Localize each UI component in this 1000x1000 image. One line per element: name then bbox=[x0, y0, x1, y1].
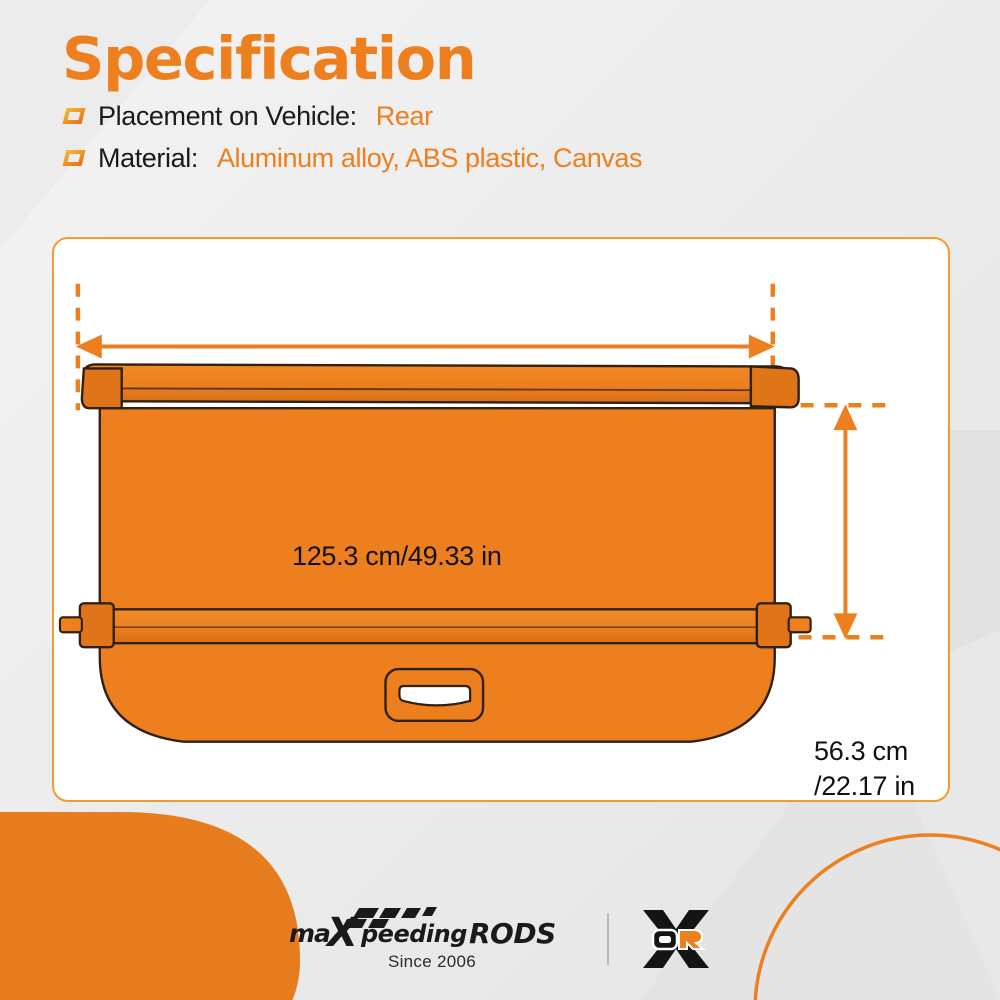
svg-text:peeding: peeding bbox=[360, 920, 467, 948]
svg-text:X: X bbox=[324, 910, 360, 950]
cargo-cover-diagram bbox=[54, 239, 948, 801]
top-bar-end-cap-right bbox=[751, 366, 799, 407]
header: Specification Placement on Vehicle: Rear… bbox=[62, 28, 642, 174]
maxpeedingrods-wordmark-icon: ma X peeding RODS bbox=[287, 906, 577, 950]
bottom-bar-bracket-left bbox=[80, 603, 114, 647]
dimension-width-label: 125.3 cm/49.33 in bbox=[292, 539, 502, 574]
top-bar-end-cap-left bbox=[82, 368, 122, 408]
page-title: Specification bbox=[62, 28, 642, 90]
bottom-roller-bar bbox=[94, 609, 781, 643]
parallelogram-bullet-icon bbox=[62, 149, 86, 167]
spec-row-material: Material: Aluminum alloy, ABS plastic, C… bbox=[62, 143, 642, 174]
logo-divider bbox=[607, 913, 609, 965]
spec-label-placement: Placement on Vehicle: bbox=[98, 101, 357, 132]
brand-logo: ma X peeding RODS Since 2006 bbox=[287, 906, 577, 972]
dim-height-arrow-top bbox=[833, 404, 857, 430]
bottom-bar-bracket-right bbox=[757, 603, 791, 647]
spec-value-placement: Rear bbox=[376, 101, 433, 132]
brand-tagline: Since 2006 bbox=[388, 952, 476, 972]
spec-label-material: Material: bbox=[98, 143, 198, 174]
bottom-bar-peg-left bbox=[60, 617, 82, 632]
qr-x-badge-icon bbox=[639, 908, 713, 970]
bottom-bar-peg-right bbox=[789, 617, 811, 632]
parallelogram-bullet-icon bbox=[62, 107, 86, 125]
spec-value-material: Aluminum alloy, ABS plastic, Canvas bbox=[217, 143, 642, 174]
svg-text:ma: ma bbox=[289, 919, 330, 948]
top-roller-bar bbox=[84, 364, 789, 403]
product-illustration-card: 125.3 cm/49.33 in 56.3 cm /22.17 in bbox=[52, 237, 950, 802]
svg-text:RODS: RODS bbox=[469, 917, 556, 950]
spec-row-placement: Placement on Vehicle: Rear bbox=[62, 101, 642, 132]
pull-handle-cutout bbox=[399, 686, 470, 705]
footer: ma X peeding RODS Since 2006 bbox=[0, 906, 1000, 972]
dimension-height-label: 56.3 cm /22.17 in bbox=[814, 734, 915, 803]
